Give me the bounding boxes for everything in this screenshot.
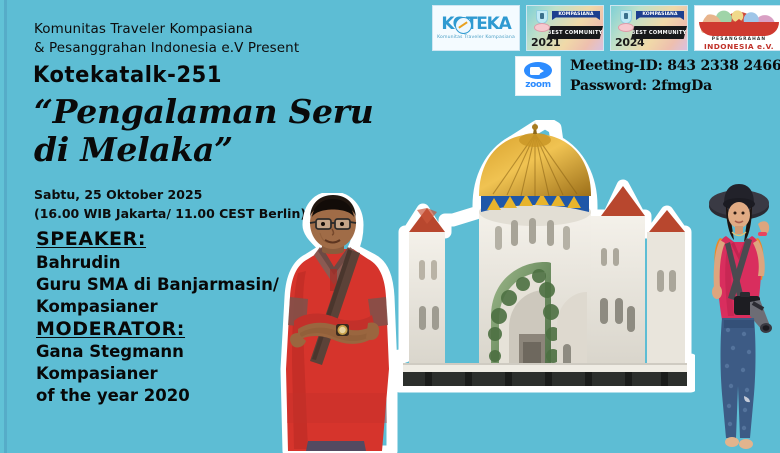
speaker-photo [268,193,398,453]
zoom-password: Password: 2fmgDa [570,77,780,97]
koteka-wordmark: KOTEKA [441,16,510,33]
mosque-photo [395,120,695,445]
series-title: Kotekatalk-251 [33,62,222,87]
zoom-wordmark: zoom [525,80,550,90]
moderator-role-line-2: of the year 2020 [36,385,306,407]
page-title: “Pengalaman Seru di Melaka” [34,93,374,170]
zoom-logo: zoom [515,56,561,96]
presenter-line-2: & Pesanggrahan Indonesia e.V Present [34,39,454,58]
trophy-icon [618,10,632,34]
koteka-logo-text: KOTEKA [441,14,510,34]
speaker-role-line-2: Kompasianer [36,296,306,318]
pesanggrahan-logo: PESANGGRAHAN INDONESIA e.V. [694,5,780,51]
moderator-heading: MODERATOR: [36,318,306,342]
award-year-2021: 2021 [531,36,560,49]
pesanggrahan-logo-line-2: INDONESIA e.V. [695,42,780,51]
moderator-name: Gana Stegmann [36,341,306,363]
zoom-credentials: Meeting-ID: 843 2338 2466 Password: 2fmg… [570,57,780,97]
logo-strip: KOTEKA Komunitas Traveler Kompasiana KOM… [432,5,780,51]
best-community-text-2024: BEST COMMUNITY [631,30,686,36]
trophy-icon [534,10,548,34]
kompasiana-banner-text-2021: KOMPASIANA [558,12,593,17]
award-badge-2024: KOMPASIANA BEST COMMUNITY 2024 [610,5,688,51]
left-edge-band-dark [4,0,7,453]
award-year-2024: 2024 [615,36,644,49]
zoom-meeting-id: Meeting-ID: 843 2338 2466 [570,57,780,77]
speaker-heading: SPEAKER: [36,228,306,252]
presenter-line-1: Komunitas Traveler Kompasiana [34,20,454,39]
page-title-line-2: di Melaka” [34,131,374,169]
kompasiana-banner-2021: KOMPASIANA [552,11,600,20]
kompasiana-banner-2024: KOMPASIANA [636,11,684,20]
speaker-name: Bahrudin [36,252,306,274]
presenter-organizers: Komunitas Traveler Kompasiana & Pesanggr… [34,20,454,58]
moderator-role-line-1: Kompasianer [36,363,306,385]
credits-block: SPEAKER: Bahrudin Guru SMA di Banjarmasi… [36,228,306,407]
moderator-photo [700,180,778,453]
kompasiana-banner-text-2024: KOMPASIANA [642,12,677,17]
award-badge-2021: KOMPASIANA BEST COMMUNITY 2021 [526,5,604,51]
koteka-logo: KOTEKA Komunitas Traveler Kompasiana [432,5,520,51]
page-title-line-1: “Pengalaman Seru [34,92,373,131]
speaker-role-line-1: Guru SMA di Banjarmasin/ [36,274,306,296]
video-camera-icon [524,62,552,79]
poster-canvas: Komunitas Traveler Kompasiana & Pesanggr… [0,0,780,453]
best-community-text-2021: BEST COMMUNITY [547,30,602,36]
koteka-logo-subtitle: Komunitas Traveler Kompasiana [437,35,515,40]
